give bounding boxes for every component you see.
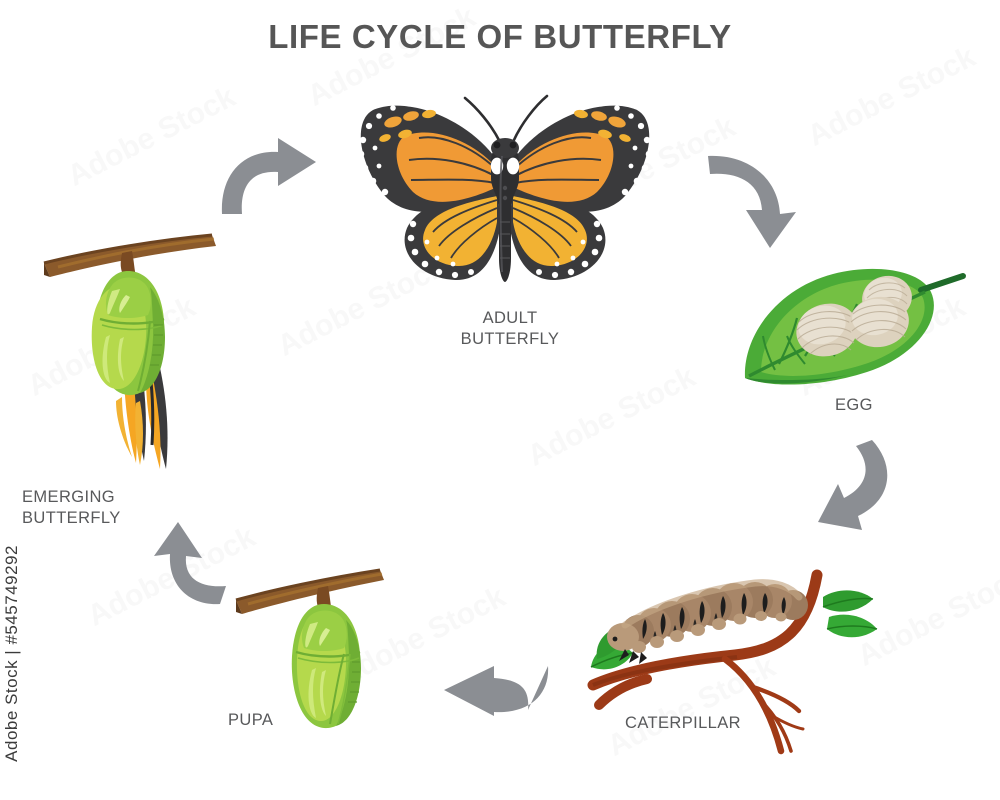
diagram-canvas: Adobe Stock Adobe Stock Adobe Stock Adob… — [0, 0, 1000, 800]
stage-label-egg: EGG — [835, 395, 965, 416]
page-title: LIFE CYCLE OF BUTTERFLY — [0, 18, 1000, 56]
arrow-adult-to-egg — [706, 152, 802, 250]
arrow-emerging-to-adult — [212, 136, 322, 218]
egg-on-leaf-icon — [735, 260, 970, 390]
arrow-egg-to-caterpillar — [812, 438, 910, 534]
stage-label-caterpillar: CATERPILLAR — [625, 713, 865, 734]
curved-arrow-up-left-icon — [144, 522, 230, 614]
curved-arrow-right-icon — [212, 136, 322, 218]
stage-emerging-butterfly — [40, 233, 250, 488]
adult-butterfly-icon — [345, 82, 665, 294]
watermark-tile: Adobe Stock — [522, 360, 701, 474]
watermark-attribution: Adobe Stock | #545749292 — [2, 545, 22, 762]
curved-arrow-left-icon — [440, 662, 552, 718]
stage-egg — [735, 260, 970, 390]
curved-arrow-down-right-icon — [706, 152, 802, 250]
curved-arrow-down-left-icon — [812, 438, 910, 534]
stage-label-adult-butterfly: ADULT BUTTERFLY — [430, 308, 590, 349]
stage-label-pupa: PUPA — [228, 710, 348, 731]
stage-adult-butterfly — [345, 82, 665, 294]
emerging-butterfly-icon — [40, 233, 250, 488]
watermark-tile: Adobe Stock — [802, 40, 981, 154]
arrow-pupa-to-emerging — [144, 522, 230, 614]
arrow-caterpillar-to-pupa — [440, 662, 552, 718]
